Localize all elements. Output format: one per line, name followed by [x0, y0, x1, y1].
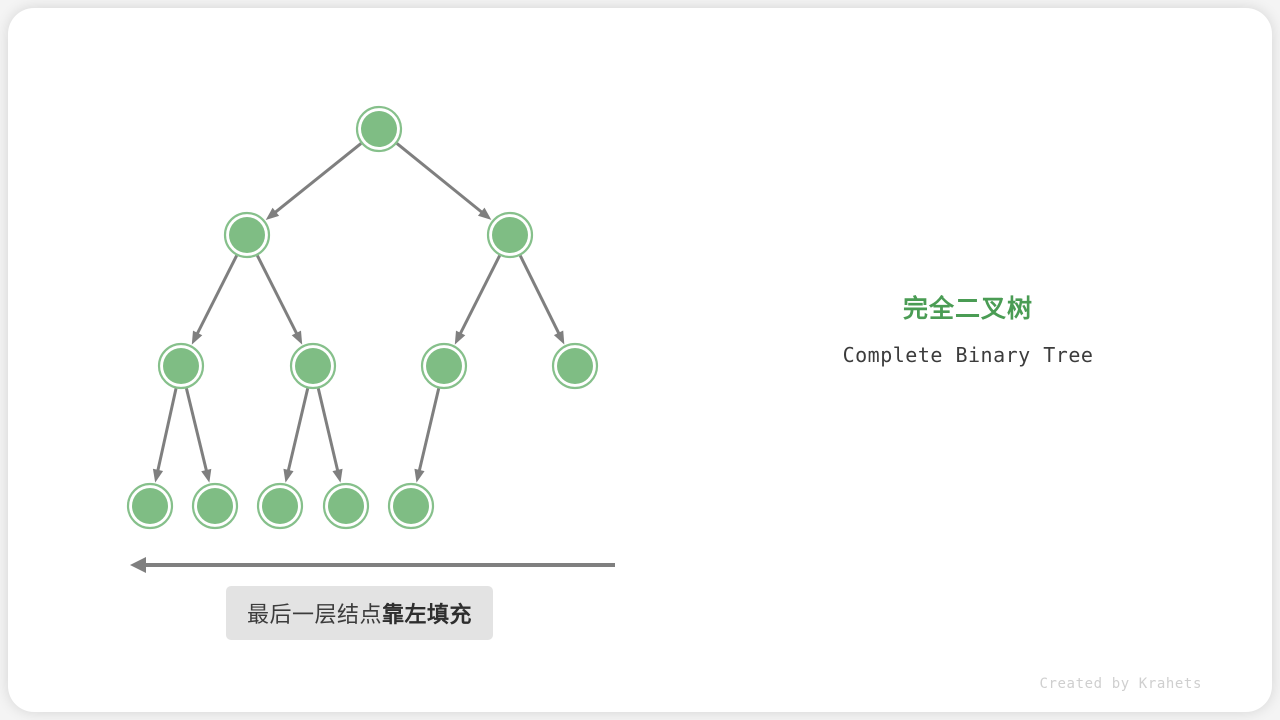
tree-edge-arrowhead: [332, 469, 342, 483]
tree-edge: [397, 143, 483, 213]
tree-node: [128, 484, 172, 528]
tree-node-fill: [295, 348, 331, 384]
tree-node: [422, 344, 466, 388]
tree-edge-arrowhead: [292, 331, 302, 345]
tree-node: [488, 213, 532, 257]
tree-node-fill: [393, 488, 429, 524]
tree-edge-arrowhead: [153, 469, 163, 483]
title-block: 完全二叉树 Complete Binary Tree: [760, 292, 1176, 369]
left-fill-arrow: [130, 557, 615, 573]
tree-node-fill: [361, 111, 397, 147]
page-subtitle: Complete Binary Tree: [760, 341, 1176, 369]
tree-node-fill: [197, 488, 233, 524]
tree-edge-arrowhead: [414, 469, 424, 483]
tree-edge-arrowhead: [554, 331, 564, 345]
tree-node-fill: [229, 217, 265, 253]
tree-edge-arrowhead: [201, 469, 211, 483]
sweep-arrow-head: [130, 557, 146, 573]
caption-emphasis: 靠左填充: [382, 602, 472, 627]
tree-node-fill: [132, 488, 168, 524]
tree-edge: [274, 143, 361, 213]
caption-prefix: 最后一层结点: [247, 602, 382, 627]
page-title: 完全二叉树: [760, 292, 1176, 326]
tree-edge-arrowhead: [192, 331, 202, 345]
tree-node-fill: [163, 348, 199, 384]
tree-node: [553, 344, 597, 388]
tree-edge: [288, 388, 308, 472]
tree-node: [357, 107, 401, 151]
caption-chip: 最后一层结点靠左填充: [226, 586, 493, 640]
tree-edge-arrowhead: [283, 469, 293, 483]
tree-nodes: [128, 107, 597, 528]
tree-edge: [460, 256, 500, 335]
diagram-canvas: 完全二叉树 Complete Binary Tree 最后一层结点靠左填充 Cr…: [0, 0, 1280, 720]
tree-node: [225, 213, 269, 257]
tree-edge: [186, 388, 206, 472]
tree-edge-arrowhead: [455, 331, 465, 345]
tree-node: [389, 484, 433, 528]
tree-node-fill: [426, 348, 462, 384]
tree-edge: [520, 256, 559, 335]
tree-edge: [318, 388, 338, 472]
tree-node-fill: [328, 488, 364, 524]
tree-node: [291, 344, 335, 388]
tree-node: [159, 344, 203, 388]
tree-node-fill: [492, 217, 528, 253]
tree-edges: [153, 143, 564, 482]
footer-credit: Created by Krahets: [1039, 676, 1202, 692]
tree-edge: [257, 256, 297, 335]
tree-node: [193, 484, 237, 528]
tree-node: [258, 484, 302, 528]
tree-edge: [419, 388, 439, 472]
tree-edge: [158, 388, 176, 471]
tree-node-fill: [262, 488, 298, 524]
tree-node-fill: [557, 348, 593, 384]
tree-node: [324, 484, 368, 528]
tree-edge: [197, 256, 237, 335]
